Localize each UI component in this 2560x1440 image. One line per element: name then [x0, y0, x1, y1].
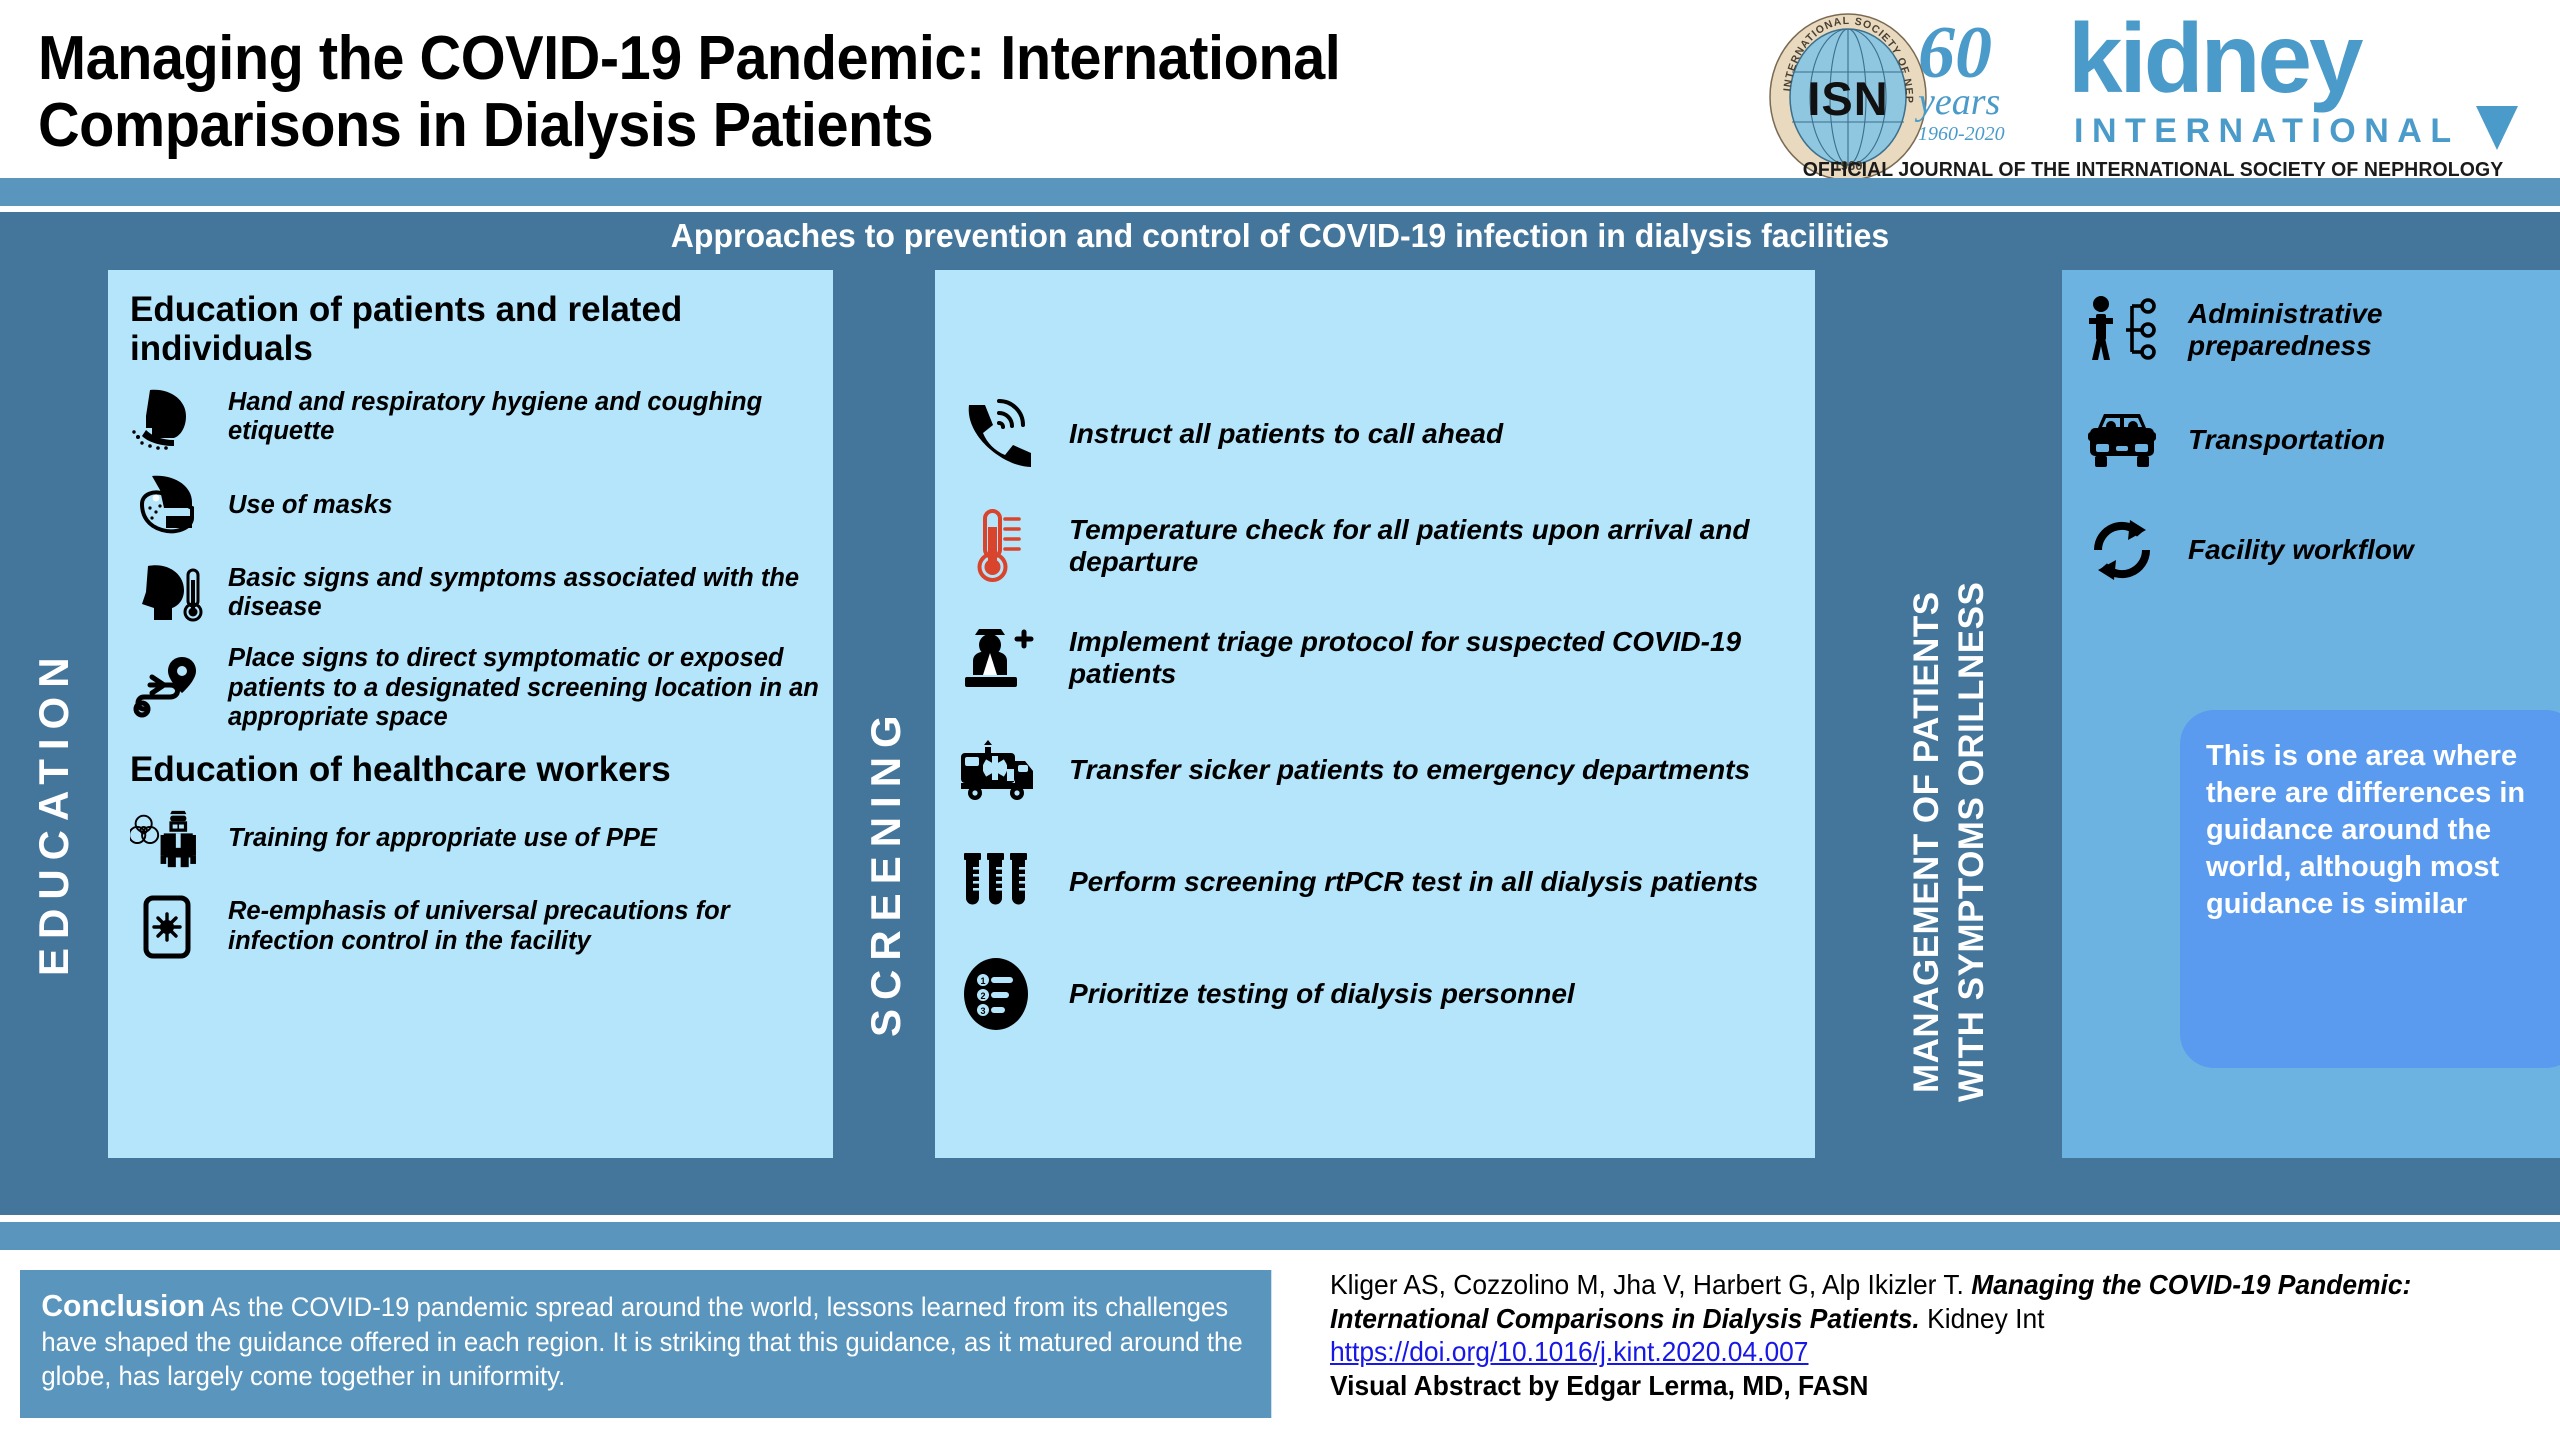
anniversary-mark: 60 years 1960-2020: [1918, 20, 2058, 180]
management-card: Administrative preparedness: [2062, 270, 2560, 1158]
list-item-label: Temperature check for all patients upon …: [1055, 514, 1805, 578]
list-item: Transportation: [2084, 402, 2544, 478]
screening-items: Instruct all patients to call ahead: [955, 270, 1805, 1158]
svg-text:2: 2: [980, 991, 985, 1001]
education-patients-heading: Education of patients and related indivi…: [130, 290, 820, 368]
main-banner-title: Approaches to prevention and control of …: [38, 212, 2521, 260]
citation-authors: Kliger AS, Cozzolino M, Jha V, Harbert G…: [1330, 1269, 1964, 1300]
conclusion-label: Conclusion: [41, 1288, 205, 1323]
conclusion-text: As the COVID-19 pandemic spread around t…: [41, 1292, 1242, 1391]
citation-block: Kliger AS, Cozzolino M, Jha V, Harbert G…: [1330, 1268, 2501, 1402]
list-item: Re-emphasis of universal precautions for…: [130, 890, 820, 964]
list-item: Use of masks: [130, 468, 820, 542]
thermometer-icon: [955, 505, 1037, 587]
anniversary-number: 60: [1918, 20, 2058, 87]
list-item: Implement triage protocol for suspected …: [955, 617, 1805, 699]
list-item-label: Hand and respiratory hygiene and coughin…: [222, 388, 820, 447]
list-item-label: Instruct all patients to call ahead: [1055, 418, 1503, 450]
list-item: Basic signs and symptoms associated with…: [130, 556, 820, 630]
ambulance-icon: [955, 729, 1037, 811]
education-workers-heading: Education of healthcare workers: [130, 750, 820, 789]
list-item: Transfer sicker patients to emergency de…: [955, 729, 1805, 811]
svg-text:3: 3: [980, 1006, 985, 1016]
list-item-label: Perform screening rtPCR test in all dial…: [1055, 866, 1758, 898]
education-card: Education of patients and related indivi…: [108, 270, 833, 1158]
refresh-cycle-icon: [2084, 512, 2160, 588]
page-title: Managing the COVID-19 Pandemic: Internat…: [38, 26, 1638, 160]
list-item-label: Use of masks: [222, 491, 392, 520]
top-accent-band: [0, 178, 2560, 206]
list-item-label: Training for appropriate use of PPE: [222, 824, 657, 853]
education-patient-items: Hand and respiratory hygiene and coughin…: [130, 380, 820, 732]
education-worker-items: Training for appropriate use of PPE: [130, 802, 820, 964]
list-item: Training for appropriate use of PPE: [130, 802, 820, 876]
list-item-label: Administrative preparedness: [2178, 298, 2544, 362]
citation-journal: Kidney Int: [1927, 1303, 2044, 1334]
conclusion-box: Conclusion As the COVID-19 pandemic spre…: [20, 1270, 1271, 1418]
list-item-label: Implement triage protocol for suspected …: [1055, 626, 1805, 690]
list-item: Perform screening rtPCR test in all dial…: [955, 841, 1805, 923]
main-panel: Approaches to prevention and control of …: [0, 212, 2560, 1215]
anniversary-dates: 1960-2020: [1918, 123, 2058, 146]
list-item: 1 2 3 Prioritize testing of dialysis per…: [955, 953, 1805, 1035]
list-item-label: Facility workflow: [2178, 534, 2414, 566]
journal-wordmark-sub: INTERNATIONAL: [2074, 112, 2460, 151]
triage-nurse-icon: [955, 617, 1037, 699]
isn-seal-icon: ISN INTERNATIONAL SOCIETY OF NEPHROLOGY …: [1768, 12, 1928, 182]
column-label-management: MANAGEMENT OF PATIENTS WITH SYMPTOMS ORI…: [1905, 542, 2015, 1142]
bottom-accent-band: [0, 1222, 2560, 1250]
svg-text:1: 1: [980, 976, 985, 986]
list-item-label: Transportation: [2178, 424, 2385, 456]
anniversary-word: years: [1918, 83, 2058, 121]
visual-abstract-credit: Visual Abstract by Edgar Lerma, MD, FASN: [1330, 1369, 2501, 1403]
column-label-education: EDUCATION: [30, 542, 88, 1082]
list-item: Temperature check for all patients upon …: [955, 505, 1805, 587]
ringing-phone-icon: [955, 393, 1037, 475]
list-item-label: Re-emphasis of universal precautions for…: [222, 897, 820, 956]
masked-face-icon: [130, 468, 204, 542]
list-item: Place signs to direct symptomatic or exp…: [130, 644, 820, 732]
swoosh-icon: [2474, 104, 2520, 152]
screening-card: Instruct all patients to call ahead: [935, 270, 1815, 1158]
list-item: Hand and respiratory hygiene and coughin…: [130, 380, 820, 454]
virus-protocol-document-icon: [130, 890, 204, 964]
list-item: Administrative preparedness: [2084, 292, 2544, 368]
doi-link[interactable]: https://doi.org/10.1016/j.kint.2020.04.0…: [1330, 1335, 2501, 1369]
person-org-chart-icon: [2084, 292, 2160, 368]
list-item: Instruct all patients to call ahead: [955, 393, 1805, 475]
priority-list-icon: 1 2 3: [955, 953, 1037, 1035]
list-item-label: Place signs to direct symptomatic or exp…: [222, 644, 820, 732]
guidance-callout: This is one area where there are differe…: [2180, 710, 2560, 1068]
car-front-icon: [2084, 402, 2160, 478]
list-item-label: Prioritize testing of dialysis personnel: [1055, 978, 1575, 1010]
svg-text:ISN: ISN: [1807, 72, 1888, 125]
route-signpost-icon: [130, 651, 204, 725]
biohazard-ppe-worker-icon: [130, 802, 204, 876]
management-items: Administrative preparedness: [2084, 292, 2544, 588]
coughing-head-icon: [130, 380, 204, 454]
list-item: Facility workflow: [2084, 512, 2544, 588]
journal-wordmark: kidney: [2068, 12, 2360, 105]
list-item-label: Basic signs and symptoms associated with…: [222, 564, 820, 623]
test-tubes-icon: [955, 841, 1037, 923]
list-item-label: Transfer sicker patients to emergency de…: [1055, 754, 1750, 786]
column-label-screening: SCREENING: [862, 652, 920, 1092]
page-footer: Conclusion As the COVID-19 pandemic spre…: [0, 1250, 2560, 1440]
head-thermometer-icon: [130, 556, 204, 630]
